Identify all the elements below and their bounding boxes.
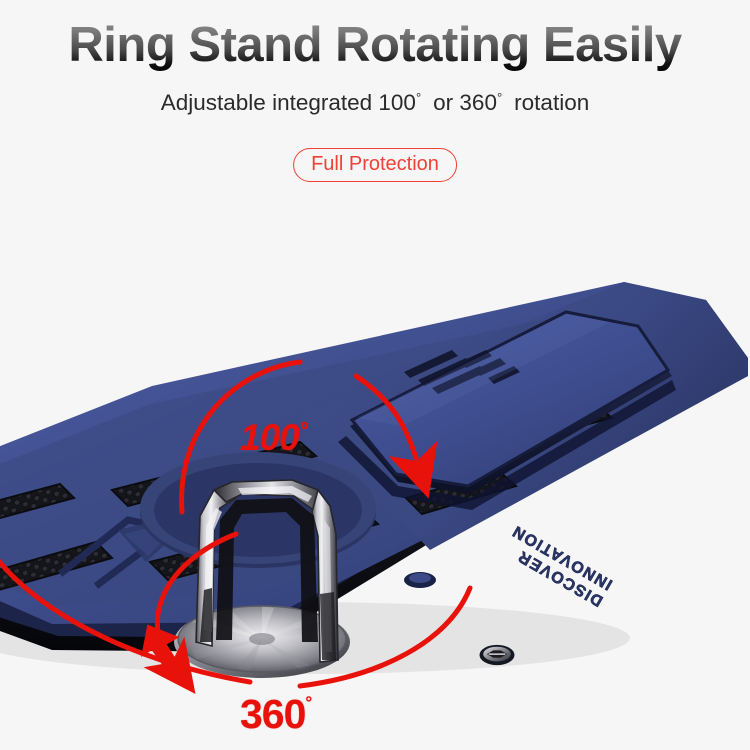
annotation-label-360: 360° (240, 691, 311, 738)
phone-case-body: DISCOVER INNOVATION (0, 282, 748, 750)
subtitle-part-1: Adjustable integrated 100 (161, 90, 416, 115)
degree-symbol-100: ° (416, 90, 421, 105)
product-image: DISCOVER INNOVATION (0, 190, 750, 750)
status-badge: Full Protection (293, 148, 457, 182)
page-title: Ring Stand Rotating Easily (0, 18, 750, 73)
annotation-label-100: 100° (240, 417, 307, 459)
embossed-brand-text: DISCOVER INNOVATION (500, 522, 616, 610)
product-marketing-banner: Ring Stand Rotating Easily Adjustable in… (0, 0, 750, 750)
subtitle-part-2: or 360 (433, 90, 497, 115)
subtitle: Adjustable integrated 100°or 360°rotatio… (0, 90, 750, 116)
degree-symbol-360: ° (497, 90, 502, 105)
subtitle-part-3: rotation (514, 90, 589, 115)
